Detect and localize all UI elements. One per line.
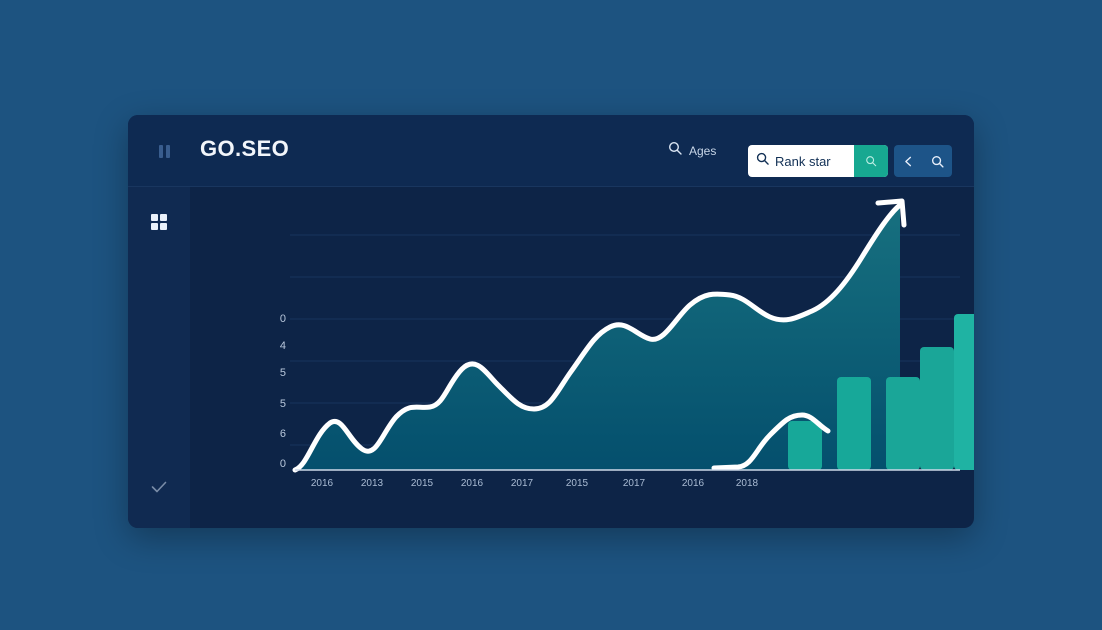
y-tick-1: 4: [280, 340, 286, 352]
logo-mark-icon: [154, 141, 174, 161]
x-axis-labels: 2016 2013 2015 2016 2017 2015 2017 2016 …: [311, 478, 759, 489]
nav-button-group[interactable]: [894, 145, 952, 177]
x-tick-2: 2015: [411, 478, 434, 489]
x-tick-1: 2013: [361, 478, 384, 489]
y-axis-labels: 0 4 5 5 6 0: [280, 313, 286, 470]
search-icon: [756, 152, 769, 170]
y-tick-2: 5: [280, 367, 286, 379]
sidebar: [128, 187, 190, 528]
y-tick-4: 6: [280, 428, 286, 440]
x-tick-7: 2016: [682, 478, 705, 489]
x-tick-3: 2016: [461, 478, 484, 489]
y-tick-5: 0: [280, 458, 286, 470]
app-card: GO.SEO Ages: [128, 115, 974, 528]
ages-filter-label: Ages: [689, 144, 716, 158]
search-icon: [668, 141, 682, 160]
x-tick-4: 2017: [511, 478, 534, 489]
search-box[interactable]: [748, 145, 888, 177]
y-tick-3: 5: [280, 398, 286, 410]
bar-4: [920, 347, 954, 470]
bar-5: [954, 314, 974, 470]
sidebar-item-tasks[interactable]: [150, 478, 168, 501]
bar-3: [886, 377, 920, 470]
ages-filter-button[interactable]: Ages: [668, 141, 716, 160]
x-tick-8: 2018: [736, 478, 759, 489]
bar-1: [788, 421, 822, 470]
chart-area: 0 4 5 5 6 0: [190, 187, 974, 528]
search-input[interactable]: [775, 154, 853, 169]
x-tick-5: 2015: [566, 478, 589, 489]
chevron-left-icon[interactable]: [902, 155, 915, 168]
app-header: GO.SEO Ages: [128, 115, 974, 187]
check-icon: [150, 478, 168, 501]
bar-2: [837, 377, 871, 470]
x-tick-0: 2016: [311, 478, 334, 489]
search-icon[interactable]: [931, 155, 944, 168]
sidebar-item-dashboard[interactable]: [151, 214, 167, 230]
trend-chart: 0 4 5 5 6 0: [190, 187, 974, 528]
search-submit-button[interactable]: [854, 145, 888, 177]
y-tick-0: 0: [280, 313, 286, 325]
page-title: GO.SEO: [200, 136, 289, 162]
x-tick-6: 2017: [623, 478, 646, 489]
search-field-area[interactable]: [748, 145, 854, 177]
